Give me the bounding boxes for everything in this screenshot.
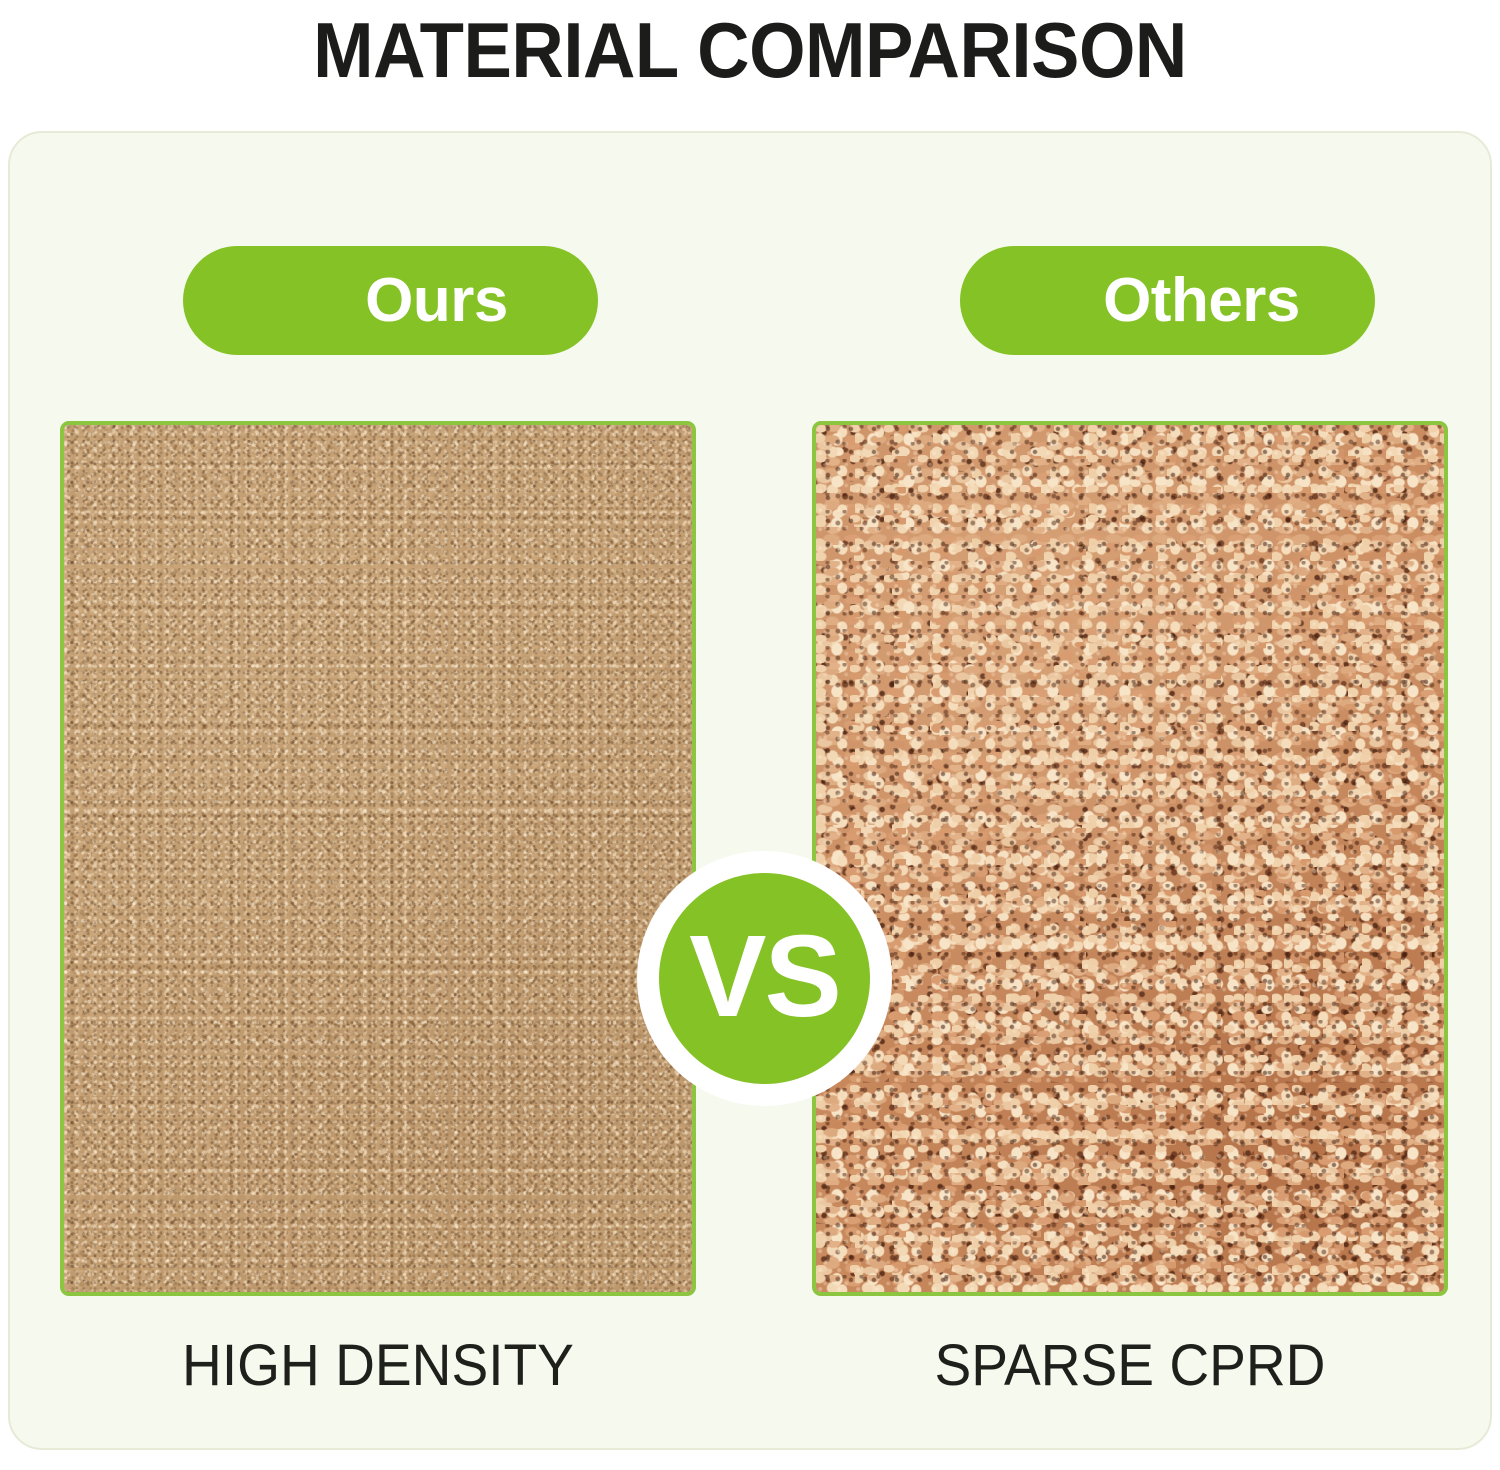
page-title: MATERIAL COMPARISON (53, 2, 1448, 98)
high-density-cork-texture (64, 425, 692, 1292)
material-comparison-graphic: MATERIAL COMPARISON Ours HIGH DENSITY Ot… (0, 0, 1500, 1470)
sparse-cork-texture (816, 425, 1444, 1292)
vs-label: VS (689, 918, 840, 1034)
caption-ours: HIGH DENSITY (76, 1329, 680, 1403)
caption-others: SPARSE CPRD (828, 1329, 1432, 1403)
badge-others[interactable]: Others (960, 246, 1375, 355)
swatch-panel-ours[interactable] (60, 421, 696, 1296)
badge-ours[interactable]: Ours (183, 246, 598, 355)
badge-others-label: Others (1103, 270, 1300, 332)
badge-ours-label: Ours (365, 270, 508, 332)
vs-badge: VS (637, 851, 892, 1106)
swatch-panel-others[interactable] (812, 421, 1448, 1296)
comparison-card: Ours HIGH DENSITY Others SPARSE CPRD VS (8, 131, 1492, 1450)
